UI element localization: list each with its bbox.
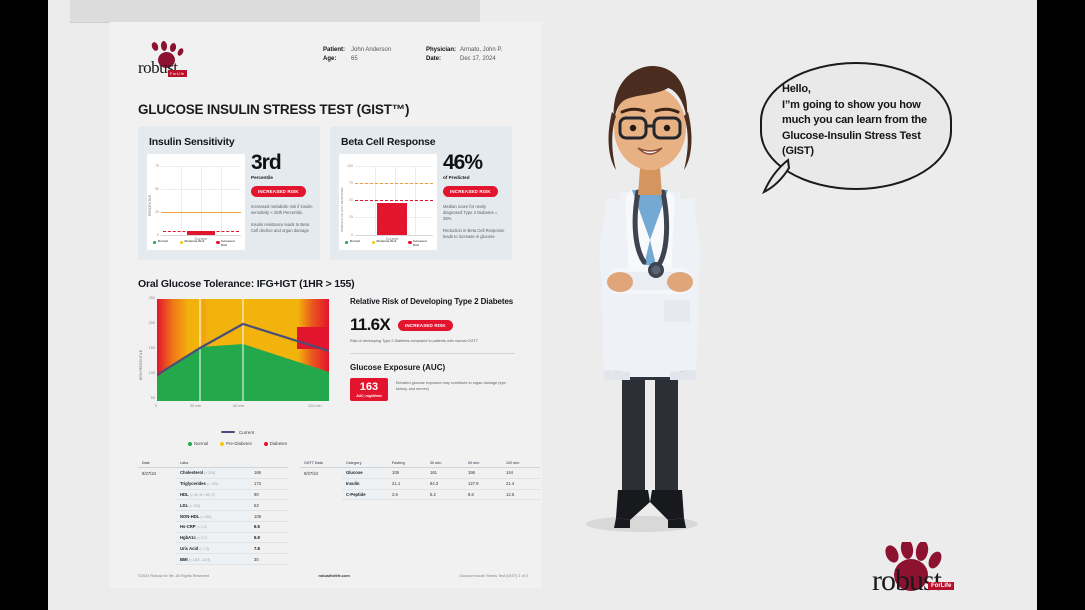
is-legend: Normal Moderate Risk Increased Risk — [153, 240, 241, 247]
ogtt-header-date: OGTT Data — [300, 459, 342, 468]
footer-website: robustforlife.com — [319, 574, 350, 578]
ogtt-ytick-150: 150 — [140, 346, 155, 350]
glucose-exposure-note: Elevated glucose exposure may contribute… — [396, 378, 515, 392]
ogtt-header-120: 120 min — [502, 459, 540, 468]
glucose-exposure-value: 163 — [350, 381, 388, 393]
logo-badge: ForLife — [168, 70, 187, 77]
insulin-sensitivity-card: Insulin Sensitivity PERCENTILE 75 50 25 … — [138, 126, 320, 260]
bottom-robust-logo: robust ForLife — [866, 542, 976, 600]
table-row: C-Peptide 2.6 5.2 8.6 12.5 — [300, 489, 540, 500]
is-ytick-75: 75 — [149, 164, 159, 168]
bc-sub-value: of Predicted — [443, 175, 505, 180]
divider — [350, 353, 515, 354]
relative-risk-value: 11.6X — [350, 315, 390, 335]
ogtt-y-axis-label: BGM PERCENTILE — [139, 350, 143, 380]
ogtt-ytick-200: 200 — [140, 321, 155, 325]
table-row: Triglycerides (< 120)173 — [138, 478, 288, 489]
ogtt-header-30: 30 min — [426, 459, 464, 468]
ogtt-legend-normal: Normal — [188, 441, 208, 446]
ogtt-legend-diabetes: Diabetes — [264, 441, 287, 446]
page-title: GLUCOSE INSULIN STRESS TEST (GIST™) — [138, 102, 409, 117]
bc-ytick-75: 75 — [341, 181, 353, 185]
bc-ytick-25: 25 — [341, 215, 353, 219]
ogtt-header-60: 60 min — [464, 459, 502, 468]
report-header: robust ForLife Patient:John Anderson Age… — [138, 40, 528, 86]
ogtt-section-title: Oral Glucose Tolerance: IFG+IGT (1HR > 1… — [138, 278, 354, 290]
ogtt-plot-area — [157, 299, 329, 401]
is-ytick-0: 0 — [149, 233, 159, 237]
current-line-swatch — [221, 431, 235, 433]
ogtt-ytick-250: 250 — [140, 296, 155, 300]
table-row: HDL (> 40, M > 50, F)90 — [138, 489, 288, 500]
bc-note-1: Median score for newly diagnosed Type 2 … — [443, 204, 505, 222]
speech-bubble-tail — [762, 158, 790, 194]
table-row: Uric Acid (< 7.2)7.8 — [138, 543, 288, 554]
bc-legend-item: Increased Risk — [408, 240, 433, 247]
is-note-1: Increased metabolic risk if insulin sens… — [251, 204, 313, 216]
is-sub-value: Percentile — [251, 175, 313, 180]
screenshot-root: robust ForLife Patient:John Anderson Age… — [0, 0, 1085, 610]
bc-big-value: 46% — [443, 152, 505, 173]
table-row: BMI (< 18.5 - 24.9)30 — [138, 554, 288, 565]
ogtt-xtick-0: 0 — [155, 404, 157, 408]
report-footer: ©2024 Robust for life. All Rights Reserv… — [138, 574, 528, 578]
is-risk-badge: INCREASED RISK — [251, 186, 306, 197]
ogtt-legend-prediabetes: Pre-Diabetes — [220, 441, 252, 446]
beta-cell-card: Beta Cell Response PERCENT OF GIST RESPO… — [330, 126, 512, 260]
ogtt-svg — [157, 299, 329, 401]
labs-header-labs: Labs — [176, 459, 250, 468]
is-bar-current — [187, 231, 215, 235]
ogtt-legend-current-label: Current — [239, 430, 254, 435]
date-label: Date: — [426, 55, 460, 64]
table-row: Hs-CRP (< 1.0)6.5 — [138, 521, 288, 532]
footer-copyright: ©2024 Robust for life. All Rights Reserv… — [138, 574, 209, 578]
bottom-logo-wordmark: robust — [872, 564, 941, 598]
bc-legend: Normal Moderate Risk Increased Risk — [345, 240, 433, 247]
is-ytick-50: 50 — [149, 187, 159, 191]
insulin-sensitivity-chart: PERCENTILE 75 50 25 0 Current — [147, 154, 245, 250]
is-threshold-line — [161, 212, 241, 213]
is-legend-item: Moderate Risk — [180, 240, 205, 247]
labs-table: Date Labs 9/27/24 Cholesterol (< 200) 16… — [138, 459, 288, 565]
physician-label: Physician: — [426, 46, 460, 55]
date-value: Dec 17, 2024 — [460, 56, 496, 62]
bc-ytick-0: 0 — [341, 233, 353, 237]
ogtt-xtick-60: 60 min — [233, 404, 244, 408]
is-big-value: 3rd — [251, 152, 313, 173]
table-header-row: OGTT Data Category Fasting 30 min 60 min… — [300, 459, 540, 468]
beta-cell-summary: 46% of Predicted INCREASED RISK Median s… — [443, 152, 505, 240]
bc-threshold-75 — [355, 183, 433, 184]
speech-bubble-text: Hello, I”m going to show you how much yo… — [782, 82, 942, 160]
table-row: HgbA1c (< 5.7)5.9 — [138, 532, 288, 543]
robust-logo: robust ForLife — [138, 42, 198, 78]
is-legend-item: Normal — [153, 240, 168, 247]
bc-legend-item: Normal — [345, 240, 360, 247]
table-row: 9/27/24 Cholesterol (< 200) 166 — [138, 468, 288, 479]
glucose-exposure-title: Glucose Exposure (AUC) — [350, 363, 515, 372]
ogtt-legend: Current Normal Pre-Diabetes Diabetes — [140, 420, 335, 446]
bottom-logo-badge: ForLife — [928, 582, 954, 590]
gist-report-page: robust ForLife Patient:John Anderson Age… — [110, 22, 542, 588]
beta-cell-chart: PERCENT OF GIST RESPONSE 100 75 50 25 0 … — [339, 154, 437, 250]
bc-ytick-50: 50 — [341, 198, 353, 202]
bc-threshold-50 — [355, 200, 433, 201]
glucose-exposure-unit: AUC; mg/dl/min — [350, 394, 388, 398]
labs-date: 9/27/24 — [138, 468, 176, 479]
ogtt-xtick-30: 30 min — [190, 404, 201, 408]
relative-risk-title: Relative Risk of Developing Type 2 Diabe… — [350, 296, 515, 307]
bc-note-2: Reduction in Beta Cell Response leads to… — [443, 228, 505, 240]
ogtt-header-fasting: Fasting — [388, 459, 426, 468]
ogtt-date: 9/27/24 — [300, 468, 342, 479]
bc-y-axis-label: PERCENT OF GIST RESPONSE — [340, 187, 344, 232]
is-legend-item: Increased Risk — [216, 240, 241, 247]
table-header-row: Date Labs — [138, 459, 288, 468]
insulin-sensitivity-title: Insulin Sensitivity — [149, 136, 234, 148]
top-strip — [70, 0, 480, 23]
doctor-svg — [560, 50, 740, 550]
relative-risk-block: Relative Risk of Developing Type 2 Diabe… — [350, 296, 515, 401]
ogtt-ytick-50: 50 — [140, 396, 155, 400]
bc-bar-current — [377, 203, 407, 235]
glucose-exposure-box: 163 AUC; mg/dl/min — [350, 378, 388, 401]
ogtt-data-table: OGTT Data Category Fasting 30 min 60 min… — [300, 459, 540, 500]
table-row: 9/27/24 Glucose 106 161 196 144 — [300, 468, 540, 479]
labs-header-date: Date — [138, 459, 176, 468]
bc-risk-badge: INCREASED RISK — [443, 186, 498, 197]
doctor-illustration — [560, 50, 740, 550]
patient-name: John Anderson — [351, 47, 391, 53]
relative-risk-note: Risk of developing Type 2 Diabetes compa… — [350, 339, 515, 344]
is-note-2: Insulin resistance leads to Beta Cell de… — [251, 222, 313, 234]
ogtt-header-category: Category — [342, 459, 388, 468]
ogtt-legend-current: Current — [221, 430, 254, 435]
ogtt-ytick-100: 100 — [140, 371, 155, 375]
relative-risk-badge: INCREASED RISK — [398, 320, 453, 331]
table-row: LDL (< 100)53 — [138, 500, 288, 511]
table-row: NON-HDL (< 130)108 — [138, 511, 288, 522]
physician-name: Armato, John P. — [460, 47, 502, 53]
patient-label: Patient: — [323, 46, 351, 55]
ogtt-chart: BGM PERCENTILE 250 200 150 100 50 — [140, 296, 335, 416]
beta-cell-title: Beta Cell Response — [341, 136, 435, 148]
table-row: Insulin 21.1 84.3 127.9 21.4 — [300, 478, 540, 489]
physician-info: Physician:Armato, John P. Date:Dec 17, 2… — [426, 46, 502, 64]
insulin-sensitivity-summary: 3rd Percentile INCREASED RISK Increased … — [251, 152, 313, 234]
is-ytick-25: 25 — [149, 210, 159, 214]
age-label: Age: — [323, 55, 351, 64]
tail-svg — [762, 158, 790, 194]
age-value: 65 — [351, 56, 358, 62]
bc-legend-item: Moderate Risk — [372, 240, 397, 247]
bc-ytick-100: 100 — [341, 164, 353, 168]
patient-info: Patient:John Anderson Age:65 — [323, 46, 391, 64]
footer-page-label: Glucose Insulin Stress Test (GIST) 1 of … — [459, 574, 528, 578]
ogtt-xtick-120: 120 min — [308, 404, 322, 408]
